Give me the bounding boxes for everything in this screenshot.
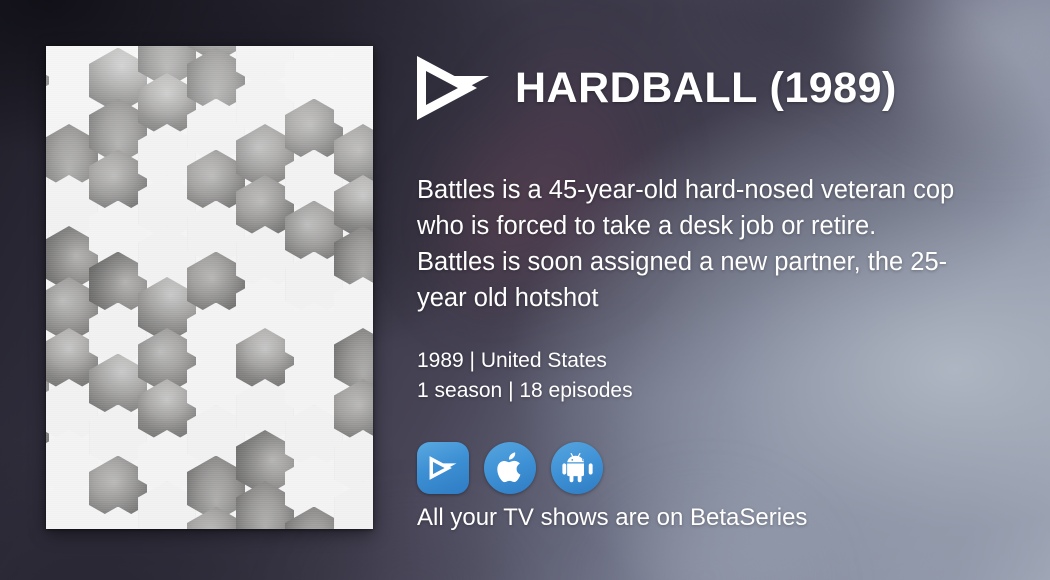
show-poster[interactable] (46, 46, 373, 529)
apple-app-store-badge[interactable] (484, 442, 536, 494)
brand-tagline: All your TV shows are on BetaSeries (417, 504, 807, 532)
poster-grain-overlay (46, 46, 373, 529)
show-info-panel: HARDBALL (1989) Battles is a 45-year-old… (415, 0, 1035, 580)
show-synopsis: Battles is a 45-year-old hard-nosed vete… (417, 172, 957, 316)
betaseries-app-badge[interactable] (417, 442, 469, 494)
show-metadata: 1989 | United States 1 season | 18 episo… (417, 346, 633, 406)
meta-seasons-episodes: 1 season | 18 episodes (417, 376, 633, 406)
betaseries-show-card: HARDBALL (1989) Battles is a 45-year-old… (0, 0, 1050, 580)
app-badges (417, 442, 603, 494)
apple-icon (495, 452, 525, 485)
betaseries-play-triangle-icon (415, 54, 493, 122)
meta-year-country: 1989 | United States (417, 346, 633, 376)
title-row: HARDBALL (1989) (415, 54, 897, 122)
android-icon (562, 453, 593, 484)
google-play-badge[interactable] (551, 442, 603, 494)
page-title: HARDBALL (1989) (515, 64, 897, 113)
betaseries-play-triangle-icon (428, 453, 458, 483)
